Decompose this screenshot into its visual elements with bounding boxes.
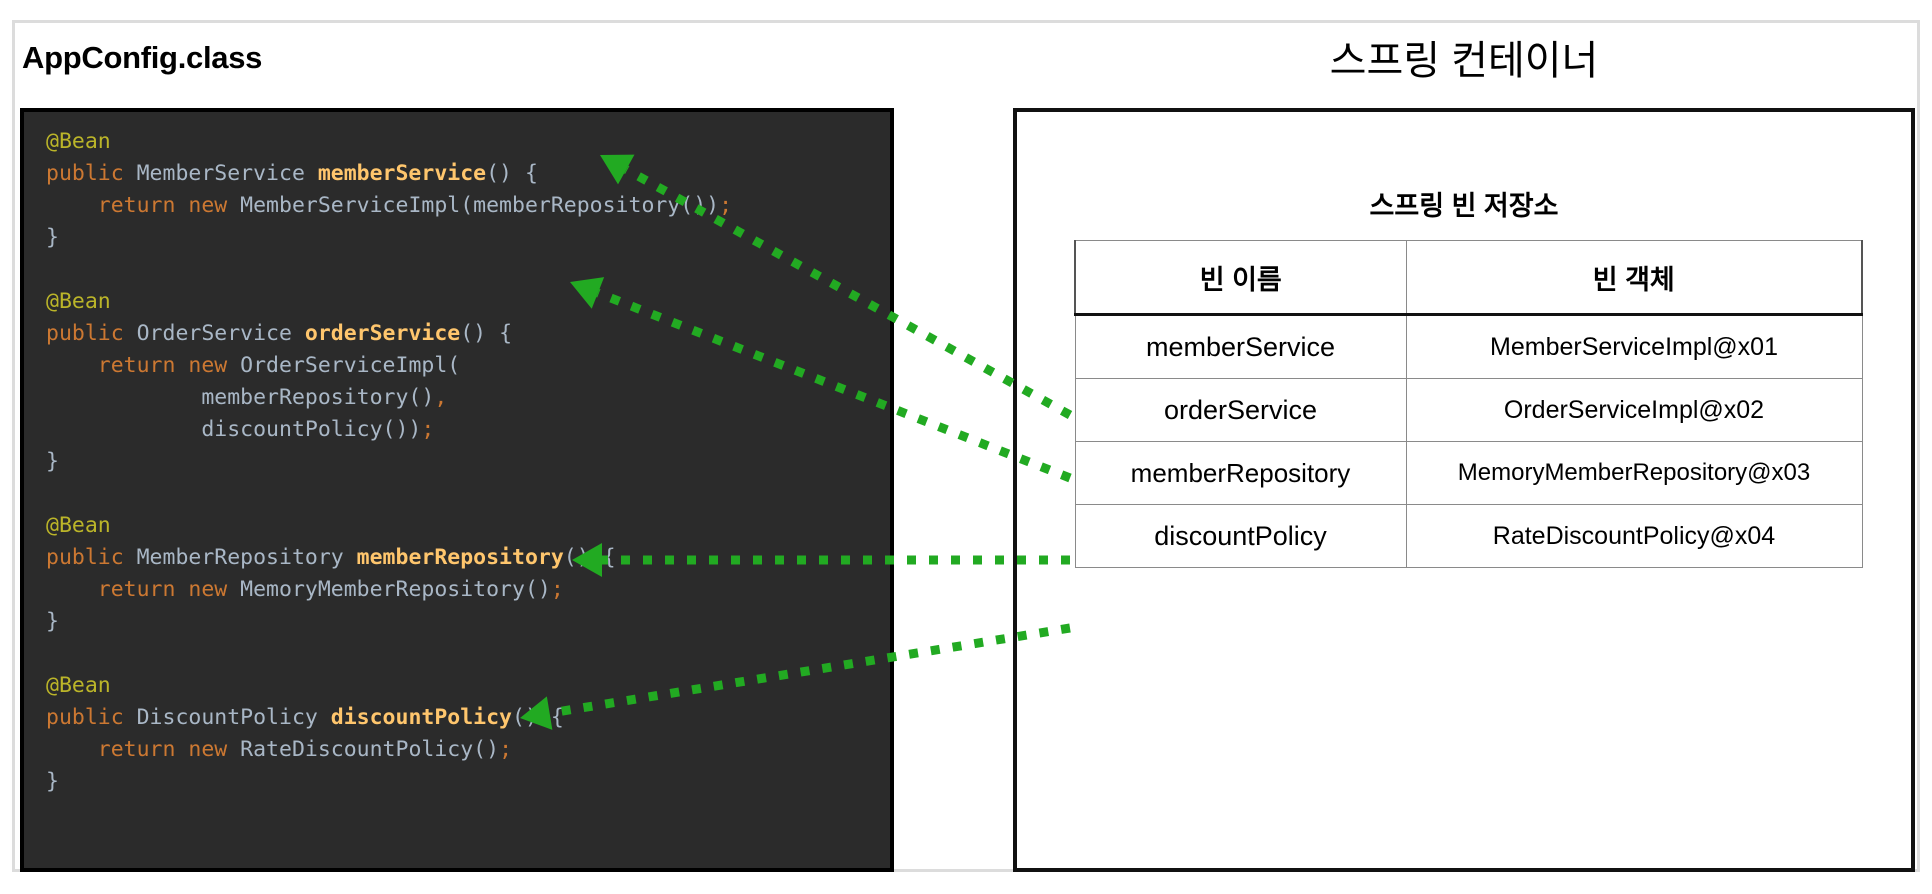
code-token: MemberService <box>137 161 318 186</box>
code-line: return new MemoryMemberRepository(); <box>46 574 732 606</box>
code-token: ; <box>551 577 564 602</box>
spring-container-title: 스프링 컨테이너 <box>1013 28 1915 86</box>
bean-object-cell: MemoryMemberRepository@x03 <box>1406 442 1862 505</box>
code-line: @Bean <box>46 510 732 542</box>
code-token <box>46 193 98 218</box>
code-token: public <box>46 705 137 730</box>
code-token: return new <box>98 577 240 602</box>
code-token <box>46 577 98 602</box>
code-token: MemberServiceImpl(memberRepository()) <box>240 193 719 218</box>
bean-object-cell: RateDiscountPolicy@x04 <box>1406 505 1862 568</box>
code-line: public MemberService memberService() { <box>46 158 732 190</box>
code-token: () { <box>460 321 512 346</box>
code-token <box>46 353 98 378</box>
code-token: public <box>46 321 137 346</box>
table-row: memberService MemberServiceImpl@x01 <box>1075 315 1862 379</box>
code-line: @Bean <box>46 670 732 702</box>
table-row: memberRepository MemoryMemberRepository@… <box>1075 442 1862 505</box>
code-token: memberRepository() <box>46 385 434 410</box>
code-token: public <box>46 545 137 570</box>
column-header-bean-name: 빈 이름 <box>1075 241 1406 315</box>
code-line: return new MemberServiceImpl(memberRepos… <box>46 190 732 222</box>
bean-object-cell: MemberServiceImpl@x01 <box>1406 315 1862 379</box>
bean-name-cell: orderService <box>1075 379 1406 442</box>
code-token: return new <box>98 353 240 378</box>
column-header-bean-object: 빈 객체 <box>1406 241 1862 315</box>
code-content: @Beanpublic MemberService memberService(… <box>46 126 732 798</box>
code-token: MemoryMemberRepository() <box>240 577 551 602</box>
code-token: ; <box>421 417 434 442</box>
code-token: RateDiscountPolicy() <box>240 737 499 762</box>
code-line: @Bean <box>46 286 732 318</box>
spring-container-box: 스프링 빈 저장소 빈 이름 빈 객체 memberService Member… <box>1013 108 1915 872</box>
bean-object-cell: OrderServiceImpl@x02 <box>1406 379 1862 442</box>
code-token: , <box>434 385 447 410</box>
code-line: } <box>46 222 732 254</box>
code-token: } <box>46 449 59 474</box>
code-line: public DiscountPolicy discountPolicy() { <box>46 702 732 734</box>
code-token: } <box>46 225 59 250</box>
table-row: discountPolicy RateDiscountPolicy@x04 <box>1075 505 1862 568</box>
code-token <box>46 737 98 762</box>
appconfig-title: AppConfig.class <box>22 40 262 76</box>
code-token: return new <box>98 737 240 762</box>
code-token: ; <box>499 737 512 762</box>
code-line: } <box>46 766 732 798</box>
bean-store-title: 스프링 빈 저장소 <box>1017 184 1911 223</box>
code-line: discountPolicy()); <box>46 414 732 446</box>
code-token: @Bean <box>46 673 111 698</box>
code-token: ; <box>719 193 732 218</box>
code-token: @Bean <box>46 289 111 314</box>
code-line <box>46 254 732 286</box>
code-line: } <box>46 446 732 478</box>
code-token: OrderServiceImpl( <box>240 353 460 378</box>
code-line: return new OrderServiceImpl( <box>46 350 732 382</box>
code-token: MemberRepository <box>137 545 357 570</box>
code-line: memberRepository(), <box>46 382 732 414</box>
code-token: discountPolicy <box>331 705 512 730</box>
bean-store-table: 빈 이름 빈 객체 memberService MemberServiceImp… <box>1074 240 1863 568</box>
code-line: public OrderService orderService() { <box>46 318 732 350</box>
code-token: () { <box>564 545 616 570</box>
table-header-row: 빈 이름 빈 객체 <box>1075 241 1862 315</box>
code-token: @Bean <box>46 129 111 154</box>
table-row: orderService OrderServiceImpl@x02 <box>1075 379 1862 442</box>
bean-name-cell: memberService <box>1075 315 1406 379</box>
code-token: } <box>46 609 59 634</box>
code-token: memberService <box>318 161 486 186</box>
code-line: } <box>46 606 732 638</box>
code-token: orderService <box>305 321 460 346</box>
code-token: return new <box>98 193 240 218</box>
code-line: @Bean <box>46 126 732 158</box>
code-line <box>46 478 732 510</box>
code-token: public <box>46 161 137 186</box>
code-line: public MemberRepository memberRepository… <box>46 542 732 574</box>
code-editor-panel: @Beanpublic MemberService memberService(… <box>20 108 894 872</box>
code-token: @Bean <box>46 513 111 538</box>
code-token: } <box>46 769 59 794</box>
code-token: OrderService <box>137 321 305 346</box>
code-token: DiscountPolicy <box>137 705 331 730</box>
code-token: discountPolicy()) <box>46 417 421 442</box>
code-line: return new RateDiscountPolicy(); <box>46 734 732 766</box>
code-token: () { <box>486 161 538 186</box>
bean-name-cell: discountPolicy <box>1075 505 1406 568</box>
code-token: memberRepository <box>357 545 564 570</box>
bean-name-cell: memberRepository <box>1075 442 1406 505</box>
code-token: () { <box>512 705 564 730</box>
code-line <box>46 638 732 670</box>
